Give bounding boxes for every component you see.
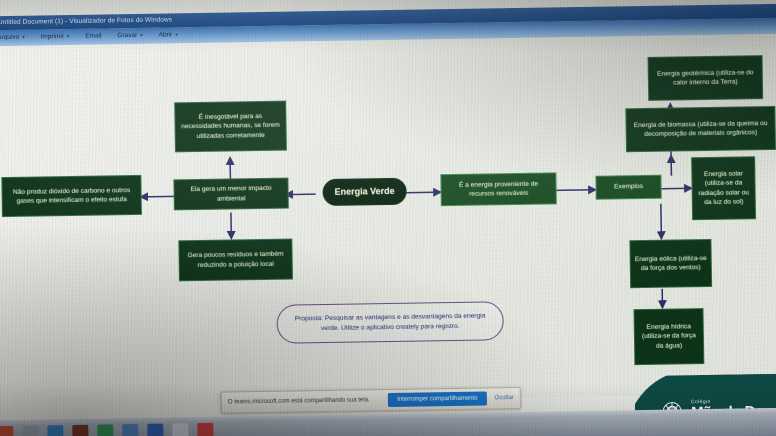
photo-of-screen: Untitled Document (1) - Visualizador de … [0,0,776,436]
node-energia-geotermica[interactable]: Energia geotérmica (utiliza-se do calor … [648,55,764,101]
taskbar-icon-teams[interactable] [147,424,163,436]
taskbar-icon-browser[interactable] [97,424,113,436]
chevron-down-icon: ▾ [67,34,70,40]
windows-taskbar[interactable] [0,408,776,436]
node-definicao[interactable]: É a energia proveniente de recursos reno… [440,172,556,206]
window-title: Untitled Document (1) - Visualizador de … [0,16,172,26]
stop-sharing-button[interactable]: Interromper compartilhamento [388,391,487,407]
image-canvas: Energia Verde É a energia proveniente de… [0,34,776,407]
taskbar-icon-pdf[interactable] [197,423,213,436]
chevron-down-icon: ▾ [140,33,143,39]
node-menor-impacto[interactable]: Ela gera um menor impacto ambiental [173,178,288,211]
proposal-note: Proposta: Pesquisar as vantagens e as de… [276,301,504,344]
toolbar-item-abrir[interactable]: Abrir▾ [158,27,177,43]
chevron-down-icon: ▾ [22,35,25,41]
monitor-screen: Untitled Document (1) - Visualizador de … [0,0,776,436]
hide-link[interactable]: Ocultar [494,395,513,401]
node-energia-verde[interactable]: Energia Verde [322,178,406,206]
node-energia-biomassa[interactable]: Energia de biomassa (utiliza-se da queim… [625,106,776,152]
screen-share-bar: O teams.microsoft.com está compartilhand… [221,387,521,414]
node-inesgotavel[interactable]: É inesgotável para as necessidades human… [174,101,287,153]
toolbar-item-imprimir[interactable]: Imprimir▾ [40,29,69,45]
node-exemplos[interactable]: Exemplos [595,175,661,200]
taskbar-icon-start[interactable] [0,426,14,436]
node-poucos-residuos[interactable]: Gera poucos resíduos e também reduzindo … [178,239,293,282]
chevron-down-icon: ▾ [175,32,178,38]
toolbar-item-arquivo[interactable]: Arquivo▾ [0,30,25,46]
taskbar-icon-explorer[interactable] [22,426,38,436]
node-energia-eolica[interactable]: Energia eólica (utiliza-se da força dos … [629,239,712,288]
share-message: O teams.microsoft.com está compartilhand… [228,397,388,406]
toolbar-item-gravar[interactable]: Gravar▾ [117,28,143,44]
node-nao-produz-carbono[interactable]: Não produz dióxido de carbono e outros g… [1,175,142,217]
taskbar-icon-app[interactable] [172,423,188,436]
taskbar-icon-word[interactable] [122,424,138,436]
taskbar-icon-folder[interactable] [47,425,63,436]
taskbar-icon-media[interactable] [72,425,88,436]
toolbar-item-email[interactable]: Email [85,28,102,44]
node-energia-solar[interactable]: Energia solar (utiliza-se da radiação so… [691,156,756,220]
mind-map-diagram: Energia Verde É a energia proveniente de… [0,34,776,407]
node-energia-hidrica[interactable]: Energia hídrica (utiliza-se da força da … [633,308,704,365]
